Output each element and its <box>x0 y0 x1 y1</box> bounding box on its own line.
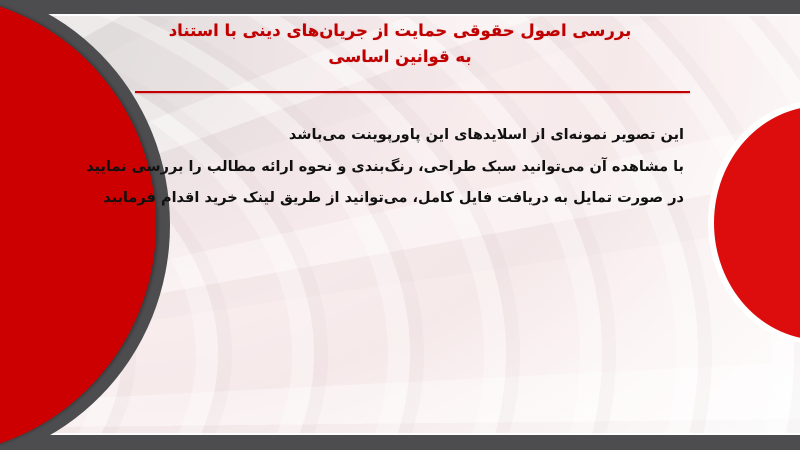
title-underline-rule <box>135 91 690 93</box>
body-line-1: این تصویر نمونه‌ای از اسلایدهای این پاور… <box>94 120 684 152</box>
body-line-3: در صورت تمایل به دریافت فایل کامل، می‌تو… <box>94 183 684 215</box>
slide-title-line-2: به قوانین اساسی <box>328 47 471 66</box>
slide-title-line-1: بررسی اصول حقوقی حمایت از جریان‌های دینی… <box>169 21 632 40</box>
slide-body-text: این تصویر نمونه‌ای از اسلایدهای این پاور… <box>94 120 684 215</box>
slide-title: بررسی اصول حقوقی حمایت از جریان‌های دینی… <box>110 18 690 69</box>
body-line-2: با مشاهده آن می‌توانید سبک طراحی، رنگ‌بن… <box>94 152 684 184</box>
slide-canvas: بررسی اصول حقوقی حمایت از جریان‌های دینی… <box>0 0 800 450</box>
slide-text-content: بررسی اصول حقوقی حمایت از جریان‌های دینی… <box>0 14 800 435</box>
